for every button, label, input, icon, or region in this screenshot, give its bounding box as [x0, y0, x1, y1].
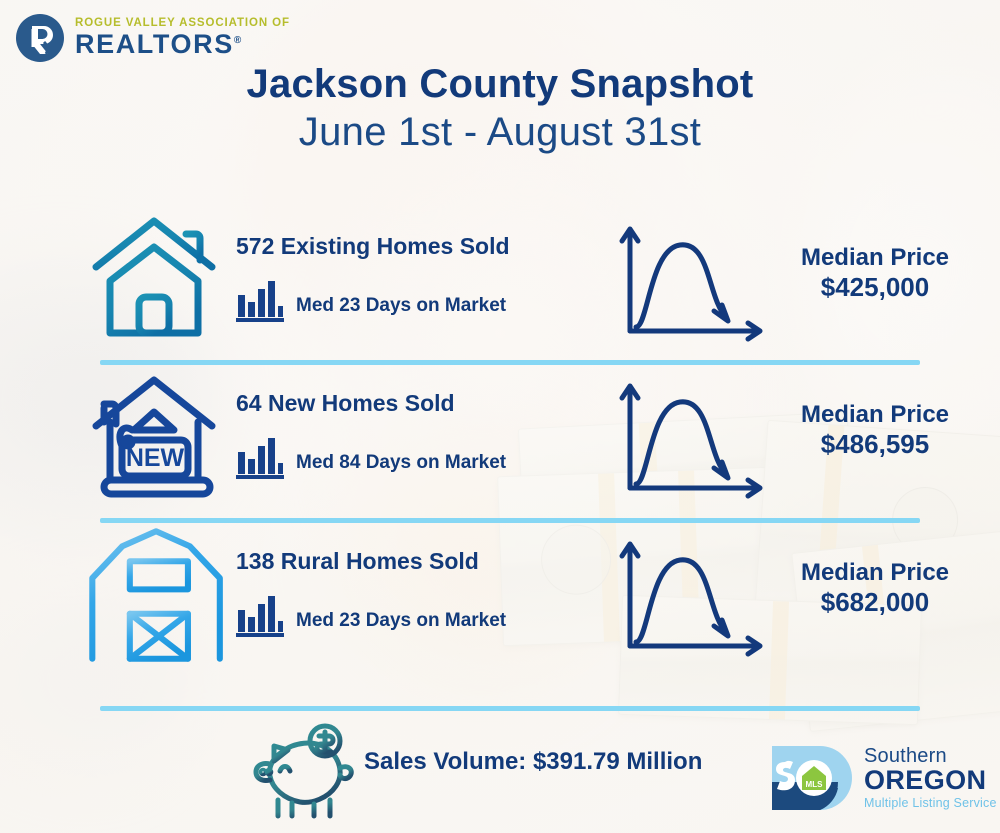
stat-text-block: 64 New Homes Sold Med 84 Days on Market: [236, 392, 576, 480]
row-divider: [100, 706, 920, 711]
median-price-label: Median Price: [760, 400, 990, 429]
median-price-label: Median Price: [760, 558, 990, 587]
market-curve-icon: [618, 219, 768, 344]
median-price-block: Median Price $425,000: [760, 243, 990, 304]
somls-mark-icon: MLS: [768, 742, 854, 814]
southern-oregon-mls-logo: MLS Southern OREGON Multiple Listing Ser…: [768, 742, 997, 814]
bar-chart-icon: [236, 436, 284, 480]
mls-line-1: Southern: [864, 746, 997, 766]
median-price-value: $425,000: [760, 272, 990, 304]
days-on-market-label: Med 23 Days on Market: [296, 610, 506, 638]
homes-sold-headline: 138 Rural Homes Sold: [236, 550, 576, 573]
new-tag-text: NEW: [126, 444, 185, 472]
days-on-market-label: Med 84 Days on Market: [296, 452, 506, 480]
rvar-r-monogram-icon: [14, 12, 66, 64]
mls-line-3: Multiple Listing Service: [864, 797, 997, 810]
median-price-block: Median Price $682,000: [760, 558, 990, 619]
rural-barn-icon: [82, 520, 232, 670]
logo-wordmark: REALTORS®: [75, 31, 290, 58]
bar-chart-icon: [236, 279, 284, 323]
market-curve-icon: [618, 534, 768, 659]
stat-text-block: 572 Existing Homes Sold Med 23 Days on M…: [236, 235, 576, 323]
existing-home-icon: [82, 205, 232, 355]
homes-sold-headline: 572 Existing Homes Sold: [236, 235, 576, 258]
homes-sold-headline: 64 New Homes Sold: [236, 392, 576, 415]
median-price-label: Median Price: [760, 243, 990, 272]
median-price-value: $682,000: [760, 587, 990, 619]
median-price-value: $486,595: [760, 429, 990, 461]
market-curve-icon: [618, 376, 768, 501]
rvar-logo: ROGUE VALLEY ASSOCIATION OF REALTORS®: [14, 12, 290, 64]
sales-volume-label: Sales Volume: $391.79 Million: [364, 748, 702, 776]
new-home-icon: NEW: [82, 362, 232, 512]
mls-mark-text: MLS: [806, 780, 824, 789]
page-title: Jackson County Snapshot: [0, 62, 1000, 107]
stat-row-rural-homes: 138 Rural Homes Sold Med 23 Days on Mark…: [0, 520, 1000, 670]
median-price-block: Median Price $486,595: [760, 400, 990, 461]
piggy-bank-icon: [252, 718, 364, 822]
infographic-canvas: ROGUE VALLEY ASSOCIATION OF REALTORS® Ja…: [0, 0, 1000, 833]
bar-chart-icon: [236, 594, 284, 638]
days-on-market-label: Med 23 Days on Market: [296, 295, 506, 323]
mls-line-2: OREGON: [864, 767, 997, 794]
page-subtitle: June 1st - August 31st: [0, 110, 1000, 155]
stat-row-existing-homes: 572 Existing Homes Sold Med 23 Days on M…: [0, 205, 1000, 355]
logo-tagline: ROGUE VALLEY ASSOCIATION OF: [75, 18, 290, 30]
stat-text-block: 138 Rural Homes Sold Med 23 Days on Mark…: [236, 550, 576, 638]
stat-row-new-homes: NEW 64 New Homes Sold: [0, 362, 1000, 512]
